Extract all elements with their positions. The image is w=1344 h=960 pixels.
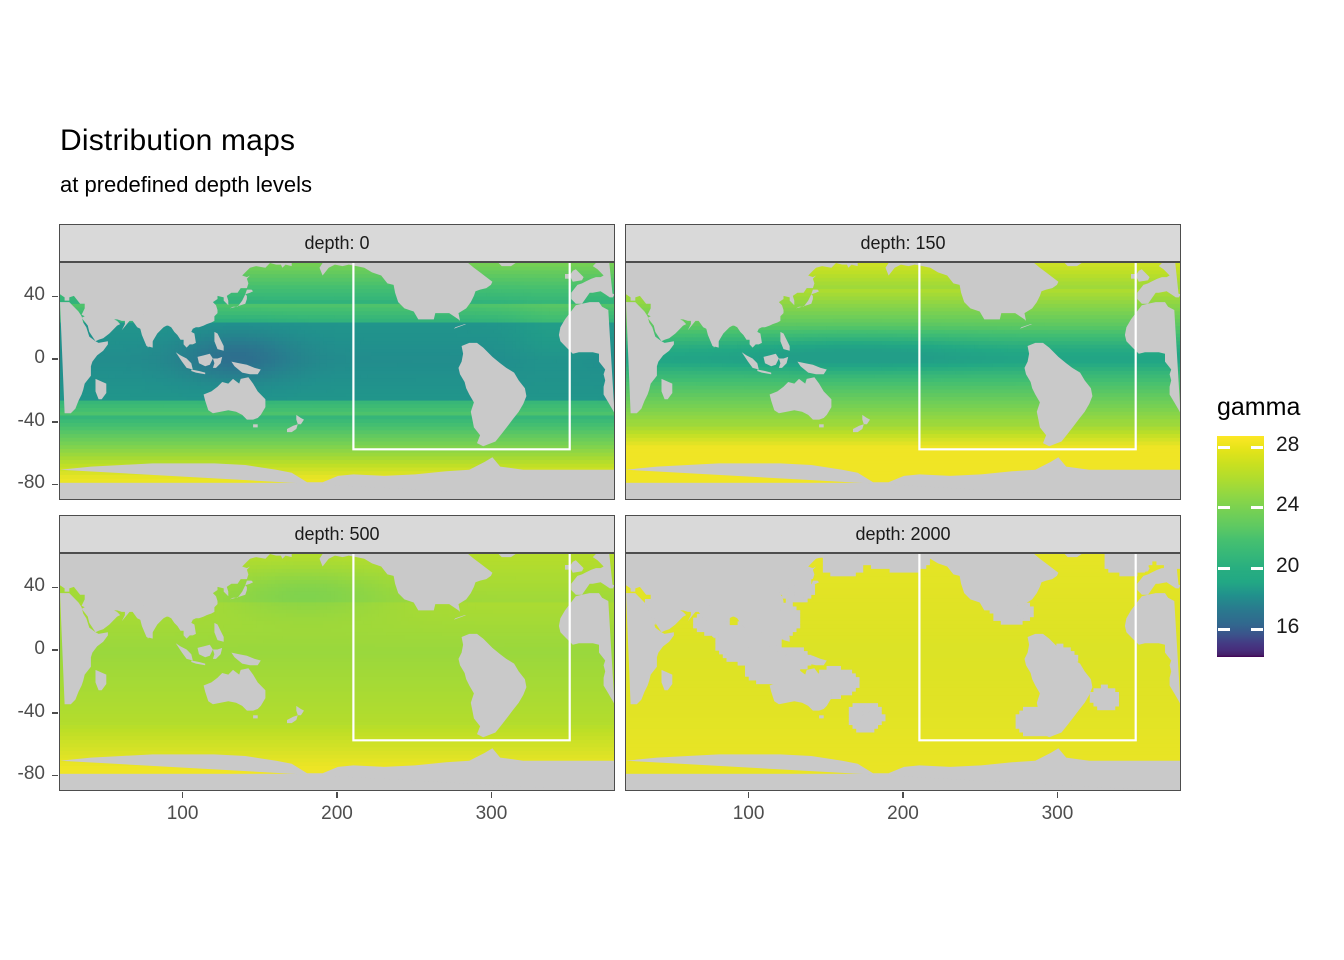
legend-tick-mark bbox=[1251, 628, 1263, 631]
x-tick-label: 200 bbox=[868, 803, 938, 825]
legend-tick-label: 16 bbox=[1276, 615, 1299, 639]
x-tick-mark bbox=[748, 792, 750, 798]
y-tick-mark bbox=[52, 421, 58, 423]
legend-tick-mark bbox=[1218, 567, 1230, 570]
facet-panel-depth-500: depth: 500 bbox=[59, 515, 615, 791]
legend-tick-label: 24 bbox=[1276, 493, 1299, 517]
y-tick-mark bbox=[52, 484, 58, 486]
y-tick-mark bbox=[52, 358, 58, 360]
y-tick-label: 40 bbox=[0, 575, 45, 597]
y-tick-label: -40 bbox=[0, 701, 45, 723]
y-tick-label: 0 bbox=[0, 347, 45, 369]
facet-panel-depth-150: depth: 150 bbox=[625, 224, 1181, 500]
legend-tick-mark bbox=[1218, 446, 1230, 449]
y-tick-label: 40 bbox=[0, 284, 45, 306]
legend-tick-mark bbox=[1251, 446, 1263, 449]
x-tick-label: 100 bbox=[148, 803, 218, 825]
facet-strip-label: depth: 150 bbox=[625, 224, 1181, 262]
y-tick-label: 0 bbox=[0, 638, 45, 660]
legend-tick-mark bbox=[1218, 506, 1230, 509]
legend-tick-mark bbox=[1251, 506, 1263, 509]
legend-colorbar[interactable] bbox=[1217, 436, 1264, 657]
y-tick-mark bbox=[52, 649, 58, 651]
legend-title: gamma bbox=[1217, 393, 1300, 422]
legend-tick-label: 20 bbox=[1276, 554, 1299, 578]
map-canvas-depth-150[interactable] bbox=[625, 262, 1181, 500]
x-tick-label: 200 bbox=[302, 803, 372, 825]
facet-panel-depth-2000: depth: 2000 bbox=[625, 515, 1181, 791]
x-tick-label: 100 bbox=[714, 803, 784, 825]
map-canvas-depth-500[interactable] bbox=[59, 553, 615, 791]
map-canvas-depth-2000[interactable] bbox=[625, 553, 1181, 791]
facet-panel-depth-0: depth: 0 bbox=[59, 224, 615, 500]
facet-strip-label: depth: 500 bbox=[59, 515, 615, 553]
y-tick-mark bbox=[52, 587, 58, 589]
y-tick-mark bbox=[52, 775, 58, 777]
legend-tick-label: 28 bbox=[1276, 433, 1299, 457]
page-title: Distribution maps bbox=[60, 124, 295, 158]
y-tick-mark bbox=[52, 712, 58, 714]
y-tick-label: -40 bbox=[0, 410, 45, 432]
page-subtitle: at predefined depth levels bbox=[60, 172, 312, 198]
x-tick-label: 300 bbox=[456, 803, 526, 825]
facet-strip-label: depth: 2000 bbox=[625, 515, 1181, 553]
x-tick-mark bbox=[491, 792, 493, 798]
y-tick-label: -80 bbox=[0, 472, 45, 494]
x-tick-mark bbox=[182, 792, 184, 798]
y-tick-label: -80 bbox=[0, 763, 45, 785]
legend-tick-mark bbox=[1251, 567, 1263, 570]
legend-tick-mark bbox=[1218, 628, 1230, 631]
map-canvas-depth-0[interactable] bbox=[59, 262, 615, 500]
figure-root: Distribution maps at predefined depth le… bbox=[0, 0, 1344, 960]
y-tick-mark bbox=[52, 296, 58, 298]
x-tick-mark bbox=[902, 792, 904, 798]
x-tick-mark bbox=[336, 792, 338, 798]
facet-strip-label: depth: 0 bbox=[59, 224, 615, 262]
x-tick-label: 300 bbox=[1022, 803, 1092, 825]
x-tick-mark bbox=[1057, 792, 1059, 798]
